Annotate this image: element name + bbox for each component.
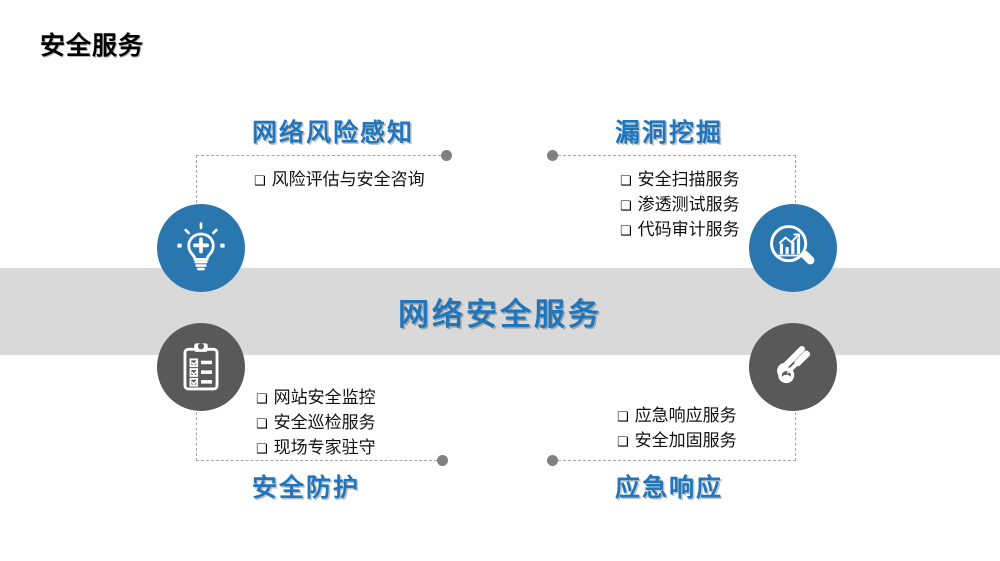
connector-dash-top-left-horizontal bbox=[196, 155, 446, 156]
list-item: ❑ 安全加固服务 bbox=[617, 429, 737, 454]
wrench-screwdriver-icon bbox=[766, 340, 820, 394]
bullet-marker-icon: ❑ bbox=[256, 438, 268, 461]
icon-circle-vulnerability-discovery[interactable] bbox=[749, 204, 837, 292]
quadrant-bullets-security-protection: ❑ 网站安全监控 ❑ 安全巡检服务 ❑ 现场专家驻守 bbox=[256, 386, 376, 461]
list-item: ❑ 代码审计服务 bbox=[620, 218, 740, 243]
list-item: ❑ 风险评估与安全咨询 bbox=[254, 168, 425, 193]
list-item-label: 代码审计服务 bbox=[638, 218, 740, 241]
bullet-marker-icon: ❑ bbox=[617, 406, 629, 429]
quadrant-heading-security-protection: 安全防护 bbox=[252, 468, 360, 504]
bullet-marker-icon: ❑ bbox=[620, 170, 632, 193]
list-item: ❑ 现场专家驻守 bbox=[256, 436, 376, 461]
quadrant-bullets-network-risk-awareness: ❑ 风险评估与安全咨询 bbox=[254, 168, 425, 193]
list-item: ❑ 应急响应服务 bbox=[617, 404, 737, 429]
icon-circle-emergency-response[interactable] bbox=[749, 323, 837, 411]
bullet-marker-icon: ❑ bbox=[620, 195, 632, 218]
list-item-label: 渗透测试服务 bbox=[638, 193, 740, 216]
connector-dash-bottom-right-horizontal bbox=[558, 460, 796, 461]
slide-canvas: 安全服务 网络安全服务 网络风险感知 ❑ 风险评估与安全咨询 bbox=[0, 0, 1000, 561]
magnifier-chart-icon bbox=[765, 220, 821, 276]
bullet-marker-icon: ❑ bbox=[256, 413, 268, 436]
page-title: 安全服务 bbox=[40, 26, 144, 62]
bullet-marker-icon: ❑ bbox=[617, 431, 629, 454]
quadrant-bullets-vulnerability-discovery: ❑ 安全扫描服务 ❑ 渗透测试服务 ❑ 代码审计服务 bbox=[620, 168, 740, 243]
center-band-label: 网络安全服务 bbox=[0, 268, 1000, 355]
list-item: ❑ 安全扫描服务 bbox=[620, 168, 740, 193]
connector-dot-bottom-right bbox=[547, 455, 558, 466]
list-item-label: 网站安全监控 bbox=[274, 386, 376, 409]
icon-circle-security-protection[interactable] bbox=[157, 323, 245, 411]
list-item: ❑ 渗透测试服务 bbox=[620, 193, 740, 218]
connector-dot-top-left bbox=[441, 150, 452, 161]
quadrant-heading-vulnerability-discovery: 漏洞挖掘 bbox=[615, 113, 723, 149]
list-item-label: 安全巡检服务 bbox=[274, 411, 376, 434]
list-item-label: 安全扫描服务 bbox=[638, 168, 740, 191]
clipboard-checklist-icon bbox=[174, 340, 228, 394]
bullet-marker-icon: ❑ bbox=[254, 170, 266, 193]
list-item-label: 风险评估与安全咨询 bbox=[272, 168, 425, 191]
lightbulb-plus-icon bbox=[173, 220, 229, 276]
bullet-marker-icon: ❑ bbox=[620, 220, 632, 243]
quadrant-heading-network-risk-awareness: 网络风险感知 bbox=[252, 113, 414, 149]
connector-dash-top-right-horizontal bbox=[558, 155, 796, 156]
list-item: ❑ 网站安全监控 bbox=[256, 386, 376, 411]
quadrant-heading-emergency-response: 应急响应 bbox=[615, 468, 723, 504]
list-item-label: 应急响应服务 bbox=[635, 404, 737, 427]
quadrant-bullets-emergency-response: ❑ 应急响应服务 ❑ 安全加固服务 bbox=[617, 404, 737, 454]
bullet-marker-icon: ❑ bbox=[256, 388, 268, 411]
connector-dot-top-right bbox=[547, 150, 558, 161]
list-item: ❑ 安全巡检服务 bbox=[256, 411, 376, 436]
list-item-label: 现场专家驻守 bbox=[274, 436, 376, 459]
connector-dot-bottom-left bbox=[437, 455, 448, 466]
icon-circle-network-risk-awareness[interactable] bbox=[157, 204, 245, 292]
list-item-label: 安全加固服务 bbox=[635, 429, 737, 452]
